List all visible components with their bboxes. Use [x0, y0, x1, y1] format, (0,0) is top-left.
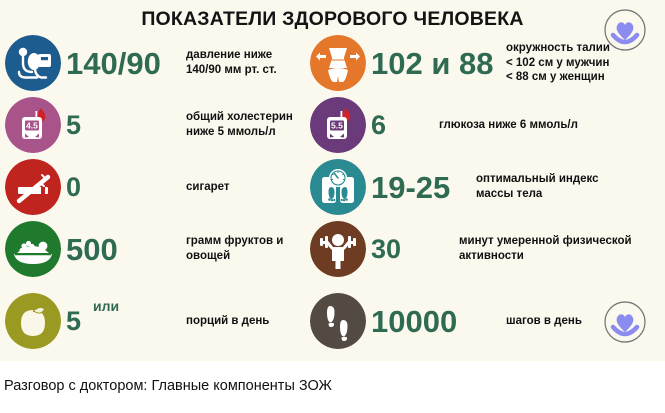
metric-description: минут умеренной физической активности [459, 234, 632, 263]
body-scale-glyph [310, 159, 366, 215]
metric-description: шагов в день [506, 314, 582, 329]
desc-line: ниже 5 ммоль/л [186, 125, 293, 140]
metric-row-blood-pressure: 140/90 давление ниже 140/90 мм рт. ст. [0, 32, 332, 94]
metric-row-bmi: 19-25 оптимальный индекс массы тела [305, 156, 637, 218]
desc-line: сигарет [186, 180, 230, 195]
waist-measure-glyph [310, 35, 366, 91]
heart-smile-logo-top-right [603, 8, 647, 52]
metric-description: давление ниже 140/90 мм рт. ст. [186, 48, 277, 77]
metric-value: 30 [371, 236, 449, 263]
desc-line: 140/90 мм рт. ст. [186, 63, 277, 78]
desc-line: глюкоза ниже 6 ммоль/л [439, 118, 578, 133]
fruit-bowl-icon [0, 221, 66, 277]
desc-line: шагов в день [506, 314, 582, 329]
desc-line: грамм фруктов и [186, 234, 283, 249]
metric-description: сигарет [186, 180, 230, 195]
metric-value: 500 [66, 234, 176, 265]
metric-value: 5 [66, 308, 176, 335]
metric-row-activity: 30 минут умеренной физической активности [305, 218, 637, 280]
blood-pressure-monitor-icon [0, 35, 66, 91]
glucometer-screen-value: 5.5 [331, 121, 343, 131]
desc-line: порций в день [186, 314, 269, 329]
metric-row-waist: 102 и 88 окружность талии < 102 см у муж… [305, 32, 637, 94]
metric-row-steps: 10000 шагов в день [305, 290, 637, 352]
metric-description: общий холестерин ниже 5 ммоль/л [186, 110, 293, 139]
waist-measure-icon [305, 35, 371, 91]
metric-description: грамм фруктов и овощей [186, 234, 283, 263]
blood-pressure-monitor-glyph [5, 35, 61, 91]
metric-value: 102 и 88 [371, 48, 496, 79]
desc-line: массы тела [476, 187, 599, 202]
glucometer-cholesterol-icon: 4.5 [0, 97, 66, 153]
glucometer-glucose-glyph: 5.5 [310, 97, 366, 153]
glucometer-screen-value: 4.5 [26, 121, 38, 131]
glucometer-glucose-icon: 5.5 [305, 97, 371, 153]
glucometer-cholesterol-glyph: 4.5 [5, 97, 61, 153]
heart-smile-logo-bottom-right [603, 300, 647, 344]
page-title: ПОКАЗАТЕЛИ ЗДОРОВОГО ЧЕЛОВЕКА [0, 8, 665, 31]
desc-line: минут умеренной физической [459, 234, 632, 249]
metric-row-portions: 5 порций в день [0, 290, 332, 352]
apple-glyph [5, 293, 61, 349]
infographic-poster: ПОКАЗАТЕЛИ ЗДОРОВОГО ЧЕЛОВЕКА [0, 0, 665, 361]
metric-value: 10000 [371, 306, 496, 337]
metric-description: окружность талии < 102 см у мужчин < 88 … [506, 41, 610, 85]
body-scale-icon [305, 159, 371, 215]
metric-row-cigarettes: 0 сигарет [0, 156, 332, 218]
desc-line: < 88 см у женщин [506, 70, 610, 85]
metric-description: порций в день [186, 314, 269, 329]
desc-line: овощей [186, 249, 283, 264]
desc-line: оптимальный индекс [476, 172, 599, 187]
no-smoking-glyph [5, 159, 61, 215]
footsteps-glyph [310, 293, 366, 349]
metric-row-fruits-grams: 500 грамм фруктов и овощей [0, 218, 332, 280]
right-column: 102 и 88 окружность талии < 102 см у муж… [305, 32, 637, 352]
desc-line: давление ниже [186, 48, 277, 63]
metric-value: 140/90 [66, 48, 176, 79]
metric-row-cholesterol: 4.5 5 общий холестерин ниже 5 ммоль/л [0, 94, 332, 156]
no-smoking-icon [0, 159, 66, 215]
metric-row-glucose: 5.5 6 глюкоза ниже 6 ммоль/л [305, 94, 637, 156]
desc-line: активности [459, 249, 632, 264]
caption-text: Разговор с доктором: Главные компоненты … [4, 378, 332, 394]
left-column: 140/90 давление ниже 140/90 мм рт. ст. 4… [0, 32, 332, 352]
desc-line: < 102 см у мужчин [506, 56, 610, 71]
footsteps-icon [305, 293, 371, 349]
metric-value: 0 [66, 174, 176, 201]
metric-value: 5 [66, 112, 176, 139]
physical-activity-icon [305, 221, 371, 277]
metric-description: глюкоза ниже 6 ммоль/л [439, 118, 578, 133]
apple-icon [0, 293, 66, 349]
physical-activity-glyph [310, 221, 366, 277]
fruit-bowl-glyph [5, 221, 61, 277]
metric-value: 19-25 [371, 172, 466, 203]
metric-description: оптимальный индекс массы тела [476, 172, 599, 201]
desc-line: общий холестерин [186, 110, 293, 125]
desc-line: окружность талии [506, 41, 610, 56]
metric-value: 6 [371, 112, 429, 139]
